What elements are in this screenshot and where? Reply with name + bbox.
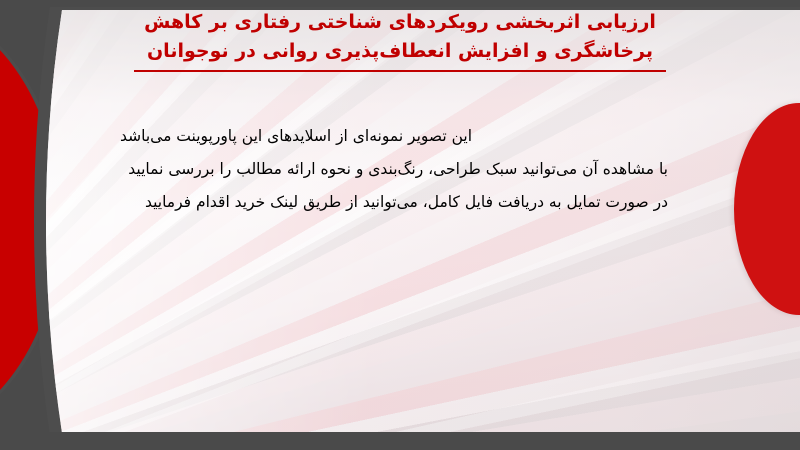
slide-title-line-2: پرخاشگری و افزایش انعطاف‌پذیری روانی در …: [130, 37, 670, 66]
presentation-slide: ارزیابی اثربخشی رویکردهای شناختی رفتاری …: [0, 0, 800, 450]
slide-body-text: این تصویر نمونه‌ای از اسلایدهای این پاور…: [120, 120, 668, 219]
bottom-frame-bar: [0, 432, 800, 450]
content-panel: [0, 10, 800, 433]
top-frame-bar: [0, 0, 800, 7]
slide-title-line-1: ارزیابی اثربخشی رویکردهای شناختی رفتاری …: [130, 8, 670, 37]
background-top-wash: [0, 10, 800, 433]
body-line-1: این تصویر نمونه‌ای از اسلایدهای این پاور…: [120, 120, 668, 153]
body-line-3: در صورت تمایل به دریافت فایل کامل، می‌تو…: [120, 186, 668, 219]
slide-title: ارزیابی اثربخشی رویکردهای شناختی رفتاری …: [130, 8, 670, 72]
body-line-2: با مشاهده آن می‌توانید سبک طراحی، رنگ‌بن…: [120, 153, 668, 186]
title-underline-rule: [134, 70, 666, 72]
